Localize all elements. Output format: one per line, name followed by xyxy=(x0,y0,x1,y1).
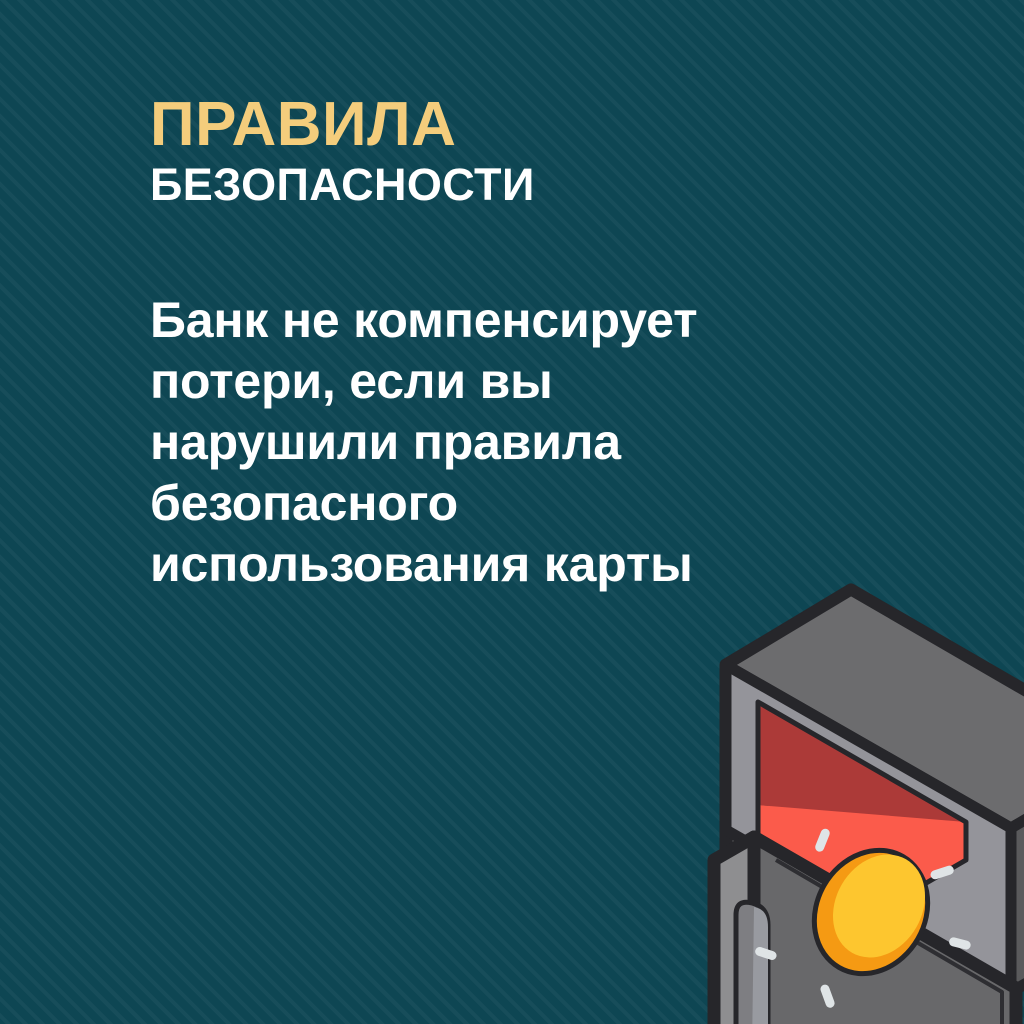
text-content-block: ПРАВИЛА БЕЗОПАСНОСТИ Банк не компенсируе… xyxy=(150,96,830,595)
safe-door-handle[interactable] xyxy=(736,902,768,1024)
open-safe-illustration xyxy=(666,560,1024,1024)
headline-secondary: БЕЗОПАСНОСТИ xyxy=(150,161,830,208)
poster-canvas: ПРАВИЛА БЕЗОПАСНОСТИ Банк не компенсируе… xyxy=(0,0,1024,1024)
safe-svg xyxy=(666,560,1024,1024)
headline-primary: ПРАВИЛА xyxy=(150,96,830,155)
body-copy: Банк не компенсирует потери, если вы нар… xyxy=(150,290,810,595)
handle-highlight xyxy=(752,907,768,1024)
